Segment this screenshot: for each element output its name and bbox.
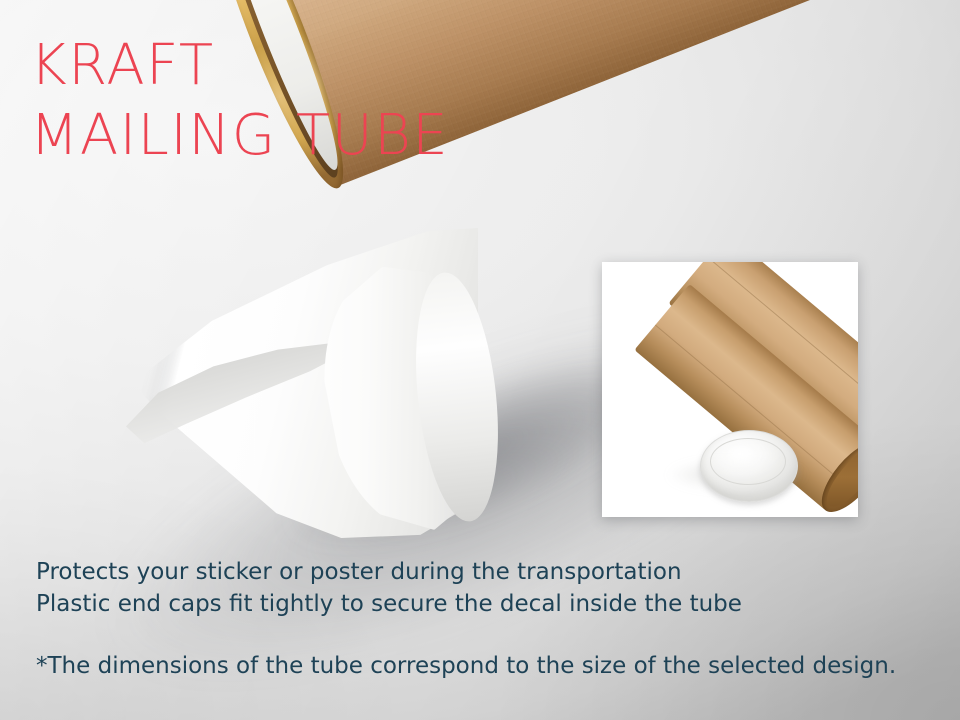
benefit-line-2: Plastic end caps fit tightly to secure t… xyxy=(36,593,742,616)
inset-loose-end-cap xyxy=(700,430,798,502)
inset-product-photo xyxy=(602,262,858,517)
benefit-line-1: Protects your sticker or poster during t… xyxy=(36,561,682,584)
headline-line-1: KRAFT xyxy=(30,38,215,94)
white-poster-sheet xyxy=(118,228,478,538)
headline-line-2: MAILING TUBE xyxy=(30,108,449,164)
product-mockup-slide: KRAFT MAILING TUBE Protects your sticker… xyxy=(0,0,960,720)
footnote-text: *The dimensions of the tube correspond t… xyxy=(36,655,896,678)
